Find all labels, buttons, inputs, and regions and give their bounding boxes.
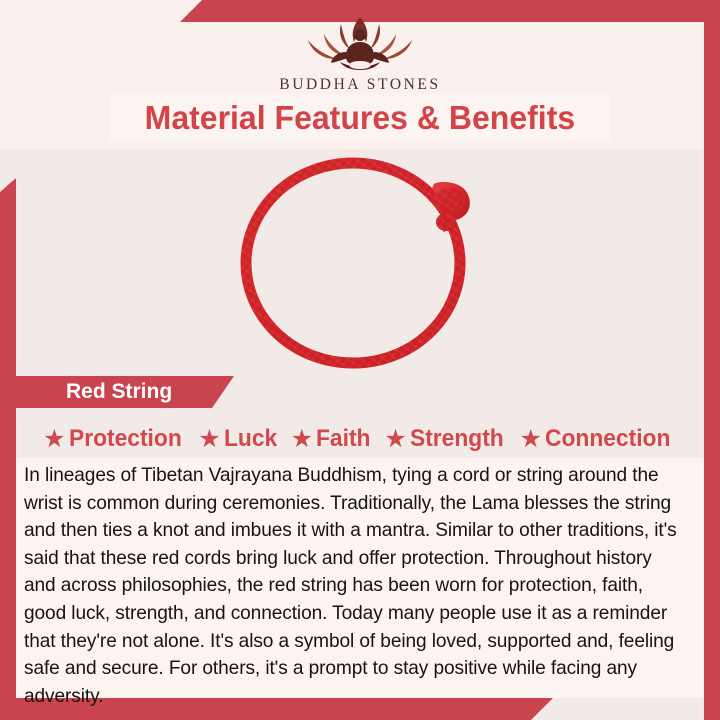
benefit-label: Luck [224, 425, 277, 453]
benefit-item-strength: ★ Strength [384, 425, 508, 453]
page-title: Material Features & Benefits [145, 99, 575, 137]
benefit-label: Faith [316, 425, 370, 453]
benefit-item-faith: ★ Faith [291, 425, 374, 453]
benefit-label: Connection [545, 425, 670, 453]
product-label-ribbon: Red String [16, 376, 234, 408]
benefit-item-protection: ★ Protection [43, 425, 187, 453]
description-panel: In lineages of Tibetan Vajrayana Buddhis… [16, 458, 704, 698]
star-icon: ★ [291, 427, 313, 452]
star-icon: ★ [43, 427, 65, 452]
infographic-poster: BUDDHA STONES Material Features & Benefi… [0, 0, 720, 720]
description-text: In lineages of Tibetan Vajrayana Buddhis… [24, 462, 680, 710]
title-banner: Material Features & Benefits [110, 94, 610, 142]
star-icon: ★ [519, 427, 541, 452]
benefits-row: ★ Protection ★ Luck ★ Faith ★ Strength ★… [16, 420, 704, 458]
product-label: Red String [66, 380, 172, 404]
lotus-meditation-icon [0, 12, 720, 74]
frame-bar-left [0, 178, 16, 720]
star-icon: ★ [384, 427, 406, 452]
product-image [16, 150, 704, 375]
star-icon: ★ [198, 427, 220, 452]
frame-bar-right [704, 0, 720, 720]
benefit-label: Protection [69, 425, 182, 453]
brand-name: BUDDHA STONES [0, 76, 720, 94]
benefit-item-luck: ★ Luck [198, 425, 279, 453]
benefit-item-connection: ★ Connection [519, 425, 676, 453]
brand-logo: BUDDHA STONES [0, 12, 720, 94]
benefit-label: Strength [410, 425, 504, 453]
